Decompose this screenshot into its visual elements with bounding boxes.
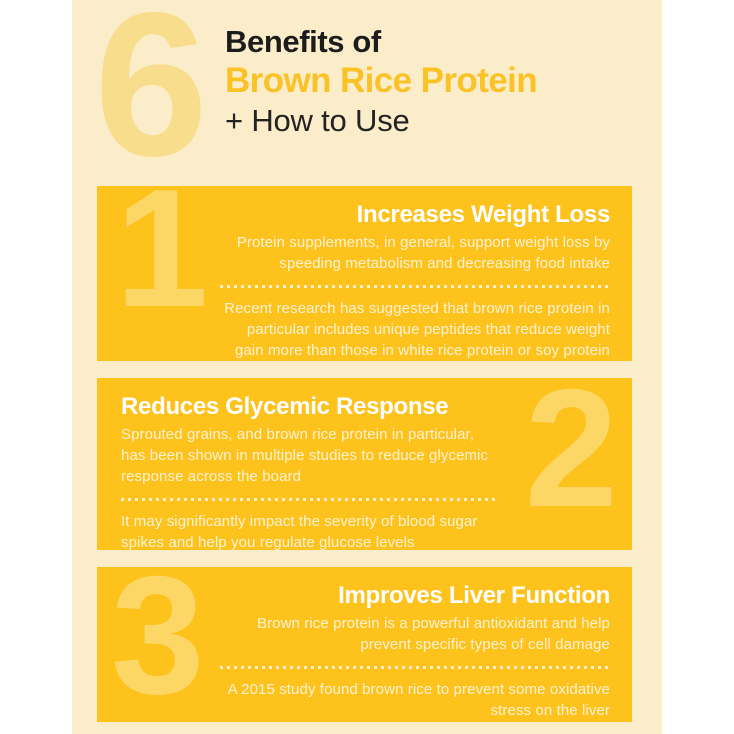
header-title-block: Benefits of Brown Rice Protein + How to …	[225, 24, 655, 141]
benefit-card-1-note: Recent research has suggested that brown…	[217, 298, 610, 361]
benefit-card-3-body: Improves Liver Function Brown rice prote…	[97, 567, 632, 721]
poster-header: 6 Benefits of Brown Rice Protein + How t…	[72, 0, 662, 178]
benefit-card-3-note: A 2015 study found brown rice to prevent…	[217, 679, 610, 721]
benefit-card-1-body: Increases Weight Loss Protein supplement…	[97, 186, 632, 361]
infographic-poster: 6 Benefits of Brown Rice Protein + How t…	[0, 0, 734, 734]
benefit-card-1-subtitle: Protein supplements, in general, support…	[217, 232, 610, 274]
benefit-card-1: 1 Increases Weight Loss Protein suppleme…	[97, 186, 632, 361]
benefit-card-2-note: It may significantly impact the severity…	[121, 511, 502, 550]
benefit-card-2-subtitle: Sprouted grains, and brown rice protein …	[121, 424, 502, 487]
header-title-line-1: Benefits of	[225, 24, 655, 60]
benefit-card-3-divider	[220, 666, 610, 669]
header-title-line-3: + How to Use	[225, 101, 655, 141]
benefit-card-3-subtitle: Brown rice protein is a powerful antioxi…	[217, 613, 610, 655]
benefit-card-2: 2 Reduces Glycemic Response Sprouted gra…	[97, 378, 632, 550]
benefit-card-2-body: Reduces Glycemic Response Sprouted grain…	[97, 378, 632, 550]
benefit-card-1-divider	[220, 285, 610, 288]
benefit-card-3: 3 Improves Liver Function Brown rice pro…	[97, 567, 632, 722]
benefit-card-2-divider	[121, 498, 499, 501]
benefit-card-3-title: Improves Liver Function	[217, 581, 610, 611]
header-title-line-2: Brown Rice Protein	[225, 60, 655, 101]
benefit-card-2-title: Reduces Glycemic Response	[121, 392, 502, 422]
header-numeral: 6	[94, 0, 202, 187]
benefit-card-1-title: Increases Weight Loss	[217, 200, 610, 230]
